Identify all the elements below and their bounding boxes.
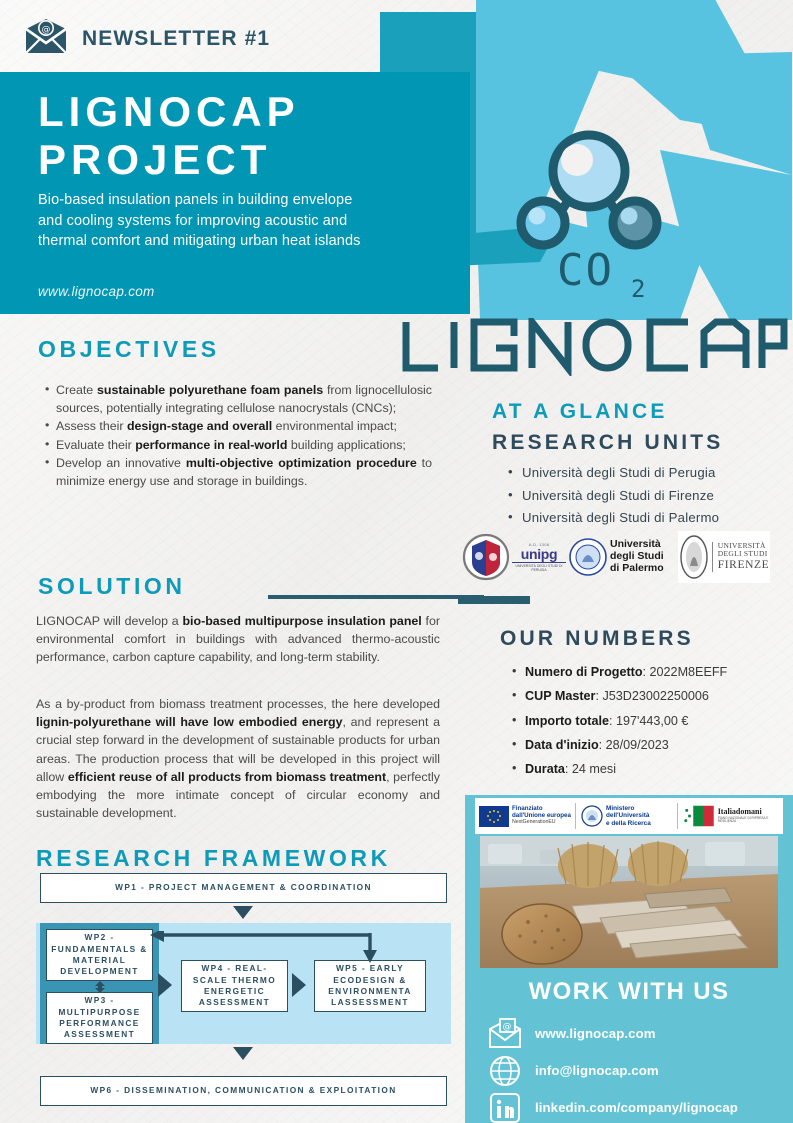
linkedin-icon: [487, 1092, 523, 1123]
wp4-box: WP4 - REAL-SCALE THERMO ENERGETIC ASSESS…: [181, 960, 288, 1012]
solution-p2-b: lignin-polyurethane will have low embodi…: [36, 715, 343, 729]
arrow-updown-wp2-wp3: [93, 981, 107, 993]
number-label: CUP Master: [525, 689, 595, 703]
mur-emblem-icon: [581, 804, 603, 828]
unipg-wordmark: unipg: [512, 547, 566, 561]
biomass-photo-svg: [480, 836, 778, 968]
italiadomani-logo: Italiadomani PIANO NAZIONALE DI RIPRESA …: [678, 805, 783, 827]
globe-icon: [487, 1055, 523, 1087]
svg-text:@: @: [503, 1022, 512, 1032]
project-url[interactable]: www.lignocap.com: [38, 284, 155, 299]
co2-logo-svg: CO 2: [505, 105, 675, 300]
objective-pre: Assess their: [56, 419, 127, 433]
solution-p1-a: LIGNOCAP will develop a: [36, 614, 182, 628]
unipg-sub: UNIVERSITÀ DEGLI STUDI DI PERUGIA: [512, 564, 566, 573]
objective-bold: design-stage and overall: [127, 419, 272, 433]
lignocap-wordmark-svg: [398, 318, 788, 376]
contact-row-email[interactable]: info@lignocap.com: [487, 1054, 793, 1087]
arrow-right-to-wp4: [158, 973, 172, 997]
number-label: Importo totale: [525, 714, 609, 728]
objective-bold: sustainable polyurethane foam panels: [97, 383, 323, 397]
eu-flag-icon: [479, 806, 509, 827]
arrow-down-wp1: [233, 906, 253, 919]
number-label: Numero di Progetto: [525, 665, 643, 679]
biomass-photo: [480, 836, 778, 968]
contact-linkedin-text[interactable]: linkedin.com/company/lignocap: [535, 1100, 738, 1115]
contact-website-text[interactable]: www.lignocap.com: [535, 1026, 656, 1041]
objective-item: Develop an innovative multi-objective op…: [44, 454, 432, 490]
research-unit-item: Università degli Studi di Perugia: [508, 462, 790, 485]
envelope-at-icon: @: [487, 1018, 523, 1050]
work-with-us-panel: Finanziato dall'Unione europea NextGener…: [465, 795, 793, 1123]
arrow-right-to-wp5: [292, 973, 306, 997]
contact-list: @ www.lignocap.com info@lignocap.com: [487, 1017, 793, 1123]
unifi-l2: DEGLI STUDI: [718, 550, 769, 559]
co2-molecule-logo: CO 2: [505, 105, 675, 300]
unifi-l3: FIRENZE: [718, 559, 769, 572]
research-units-heading: RESEARCH UNITS: [492, 431, 723, 455]
unipa-text-logo: Università degli Studi di Palermo: [610, 539, 676, 575]
it-l2: PIANO NAZIONALE DI RIPRESA E RESILIENZA: [718, 817, 783, 824]
newsletter-badge: NEWSLETTER #1: [82, 27, 270, 51]
unipa-l3: di Palermo: [610, 563, 676, 575]
project-subtitle: Bio-based insulation panels in building …: [38, 190, 378, 252]
svg-text:2: 2: [631, 275, 645, 300]
objective-post: environmental impact;: [272, 419, 397, 433]
newsletter-page: @ NEWSLETTER #1 LIGNOCAP PROJECT Bio-bas…: [0, 0, 793, 1123]
mur-l2: dell'Università: [606, 812, 651, 819]
mur-l3: e della Ricerca: [606, 820, 651, 827]
header-hero: LIGNOCAP PROJECT Bio-based insulation pa…: [0, 72, 470, 314]
number-item: Data d'inizio: 28/09/2023: [512, 733, 790, 757]
number-item: Numero di Progetto: 2022M8EEFF: [512, 660, 790, 684]
number-item: Importo totale: 197'443,00 €: [512, 709, 790, 733]
glance-heading: AT A GLANCE: [492, 400, 668, 424]
unifi-logo: UNIVERSITÀ DEGLI STUDI FIRENZE: [678, 531, 770, 583]
contact-row-linkedin[interactable]: linkedin.com/company/lignocap: [487, 1091, 793, 1123]
project-title: LIGNOCAP PROJECT: [38, 88, 438, 185]
solution-p1-b: bio-based multipurpose insulation panel: [182, 614, 421, 628]
topbar: @ NEWSLETTER #1: [0, 0, 793, 72]
objective-item: Assess their design-stage and overall en…: [44, 417, 432, 435]
number-item: Durata: 24 mesi: [512, 757, 790, 781]
solution-divider-rule: [268, 595, 484, 599]
arrow-down-to-wp6: [233, 1047, 253, 1060]
solution-heading: SOLUTION: [38, 573, 186, 600]
research-units-list: Università degli Studi di Perugia Univer…: [508, 462, 790, 530]
objectives-list: Create sustainable polyurethane foam pan…: [44, 381, 432, 490]
contact-row-website[interactable]: @ www.lignocap.com: [487, 1017, 793, 1050]
funding-logos-strip: Finanziato dall'Unione europea NextGener…: [475, 798, 783, 834]
project-title-line1: LIGNOCAP: [38, 88, 438, 136]
wp2-box: WP2 - FUNDAMENTALS & MATERIAL DEVELOPMEN…: [46, 929, 153, 981]
work-with-us-heading: WORK WITH US: [465, 978, 793, 1006]
wp3-box: WP3 - MULTIPURPOSE PERFORMANCE ASSESSMEN…: [46, 992, 153, 1044]
research-unit-item: Università degli Studi di Palermo: [508, 507, 790, 530]
mur-logo: Ministero dell'Università e della Ricerc…: [576, 804, 677, 828]
solution-paragraph-1: LIGNOCAP will develop a bio-based multip…: [36, 612, 440, 667]
university-logos-row: A.D. 1308 unipg UNIVERSITÀ DEGLI STUDI D…: [462, 530, 787, 584]
framework-heading: RESEARCH FRAMEWORK: [36, 845, 391, 872]
solution-paragraph-2: As a by-product from biomass treatment p…: [36, 695, 440, 823]
number-value: 197'443,00 €: [616, 714, 688, 728]
wp1-box: WP1 - PROJECT MANAGEMENT & COORDINATION: [40, 873, 447, 903]
objective-post: building applications;: [287, 438, 405, 452]
number-value: 24 mesi: [572, 762, 616, 776]
svg-text:CO: CO: [557, 245, 614, 296]
italy-flag-icon: [683, 805, 715, 827]
numbers-heading: OUR NUMBERS: [500, 627, 694, 651]
number-label: Data d'inizio: [525, 738, 599, 752]
our-numbers-list: Numero di Progetto: 2022M8EEFF CUP Maste…: [512, 660, 790, 781]
objective-bold: performance in real-world: [135, 438, 287, 452]
contact-email-text[interactable]: info@lignocap.com: [535, 1063, 659, 1078]
mur-l1: Ministero: [606, 805, 651, 812]
envelope-at-icon: @: [24, 19, 68, 54]
arrow-feedback-wp5-wp2: [148, 931, 388, 967]
solution-p2-d: efficient reuse of all products from bio…: [68, 770, 386, 784]
research-unit-item: Università degli Studi di Firenze: [508, 485, 790, 508]
eu-l3: NextGenerationEU: [512, 820, 571, 826]
wp5-box: WP5 - EARLY ECODESIGN & ENVIRONMENTA LAS…: [314, 960, 426, 1012]
project-title-line2: PROJECT: [38, 136, 438, 184]
solution-p2-a: As a by-product from biomass treatment p…: [36, 697, 440, 711]
research-framework-diagram: WP1 - PROJECT MANAGEMENT & COORDINATION …: [36, 873, 451, 1118]
number-value: 2022M8EEFF: [650, 665, 728, 679]
objective-bold: multi-objective optimization procedure: [186, 456, 417, 470]
objective-pre: Develop an innovative: [56, 456, 186, 470]
unipa-seal-icon: [568, 534, 608, 580]
unifi-seal-icon: [679, 534, 709, 580]
number-value: J53D23002250006: [602, 689, 708, 703]
objective-item: Create sustainable polyurethane foam pan…: [44, 381, 432, 417]
unipg-crest-logo: [462, 532, 510, 582]
eu-funding-logo: Finanziato dall'Unione europea NextGener…: [475, 806, 575, 827]
number-value: 28/09/2023: [606, 738, 669, 752]
unipg-text-logo: A.D. 1308 unipg UNIVERSITÀ DEGLI STUDI D…: [512, 542, 566, 573]
objective-pre: Create: [56, 383, 97, 397]
objective-item: Evaluate their performance in real-world…: [44, 436, 432, 454]
lignocap-wordmark: [398, 318, 788, 376]
numbers-divider-rule: [458, 596, 530, 604]
number-label: Durata: [525, 762, 565, 776]
wp6-box: WP6 - DISSEMINATION, COMMUNICATION & EXP…: [40, 1076, 447, 1106]
number-item: CUP Master: J53D23002250006: [512, 684, 790, 708]
objective-pre: Evaluate their: [56, 438, 135, 452]
svg-text:@: @: [42, 25, 51, 35]
objectives-heading: OBJECTIVES: [38, 336, 220, 363]
